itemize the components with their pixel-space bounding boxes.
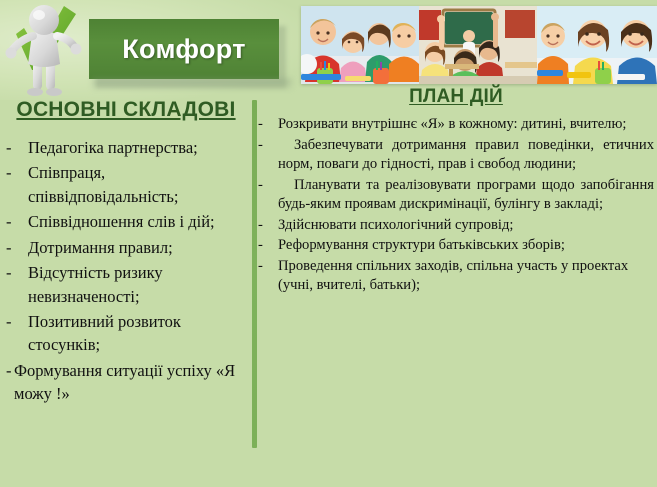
photo-pane-middle [419,6,537,84]
list-item: - Педагогіка партнерства; [0,136,248,159]
list-item-label: Відсутність ризику невизначеності; [28,261,248,308]
bullet-marker: - [6,136,28,159]
list-item-label: Позитивний розвиток стосунків; [28,310,248,357]
slide-canvas: Комфорт [0,0,657,487]
list-item-label: Співпраця, співвідповідальність; [28,161,248,208]
list-item: - Реформування структури батьківських зб… [258,236,654,256]
list-item-label: Забезпечувати дотримання правил поведінк… [278,136,654,175]
list-item-label: Реформування структури батьківських збор… [278,236,654,256]
list-item-label: Дотримання правил; [28,236,248,259]
right-column-heading: ПЛАН ДІЙ [258,86,654,108]
bullet-marker: - [6,236,28,259]
list-item: - Планувати та реалізовувати програми що… [258,176,654,215]
bullet-marker: - [6,261,28,284]
bullet-marker: - [6,310,28,333]
list-item: - Відсутність ризику невизначеності; [0,261,248,308]
bullet-marker: - [6,210,28,233]
bullet-marker: - [258,257,278,277]
banner-title: Комфорт [122,34,245,65]
list-item: - Позитивний розвиток стосунків; [0,310,248,357]
person-with-checkmark-icon [2,0,90,100]
list-item-label: Співвідношення слів і дій; [28,210,248,233]
comfort-banner: Комфорт [89,19,279,79]
list-item-label: Проведення спільних заходів, спільна уча… [278,257,654,296]
photo-pane-left [301,6,419,84]
right-column-list: - Розкривати внутрішнє «Я» в кожному: ди… [258,115,654,296]
list-item: - Формування ситуації успіху «Я можу !» [0,359,248,406]
list-item: - Розкривати внутрішнє «Я» в кожному: ди… [258,115,654,135]
list-item: - Співвідношення слів і дій; [0,210,248,233]
list-item-label: Педагогіка партнерства; [28,136,248,159]
bullet-marker: - [258,176,278,196]
list-item-label: Розкривати внутрішнє «Я» в кожному: дити… [278,115,654,135]
list-item-label: Формування ситуації успіху «Я можу !» [14,359,248,406]
bullet-marker: - [6,161,28,184]
list-item: - Співпраця, співвідповідальність; [0,161,248,208]
classroom-children-photo-banner [301,6,657,84]
left-column: ОСНОВНІ СКЛАДОВІ - Педагогіка партнерств… [0,98,248,408]
photo-pane-right [537,6,657,84]
list-item-label: Здійснювати психологічний супровід; [278,216,654,236]
bullet-marker: - [258,115,278,135]
list-item: - Дотримання правил; [0,236,248,259]
bullet-marker: - [258,136,278,156]
list-item: - Проведення спільних заходів, спільна у… [258,257,654,296]
bullet-marker: - [258,236,278,256]
list-item-label: Планувати та реалізовувати програми щодо… [278,176,654,215]
column-divider [252,100,257,448]
right-column: ПЛАН ДІЙ - Розкривати внутрішнє «Я» в ко… [258,86,654,297]
list-item: - Забезпечувати дотримання правил поведі… [258,136,654,175]
bullet-marker: - [258,216,278,236]
list-item: - Здійснювати психологічний супровід; [258,216,654,236]
left-column-list: - Педагогіка партнерства; - Співпраця, с… [0,136,248,406]
left-column-heading: ОСНОВНІ СКЛАДОВІ [0,98,248,122]
